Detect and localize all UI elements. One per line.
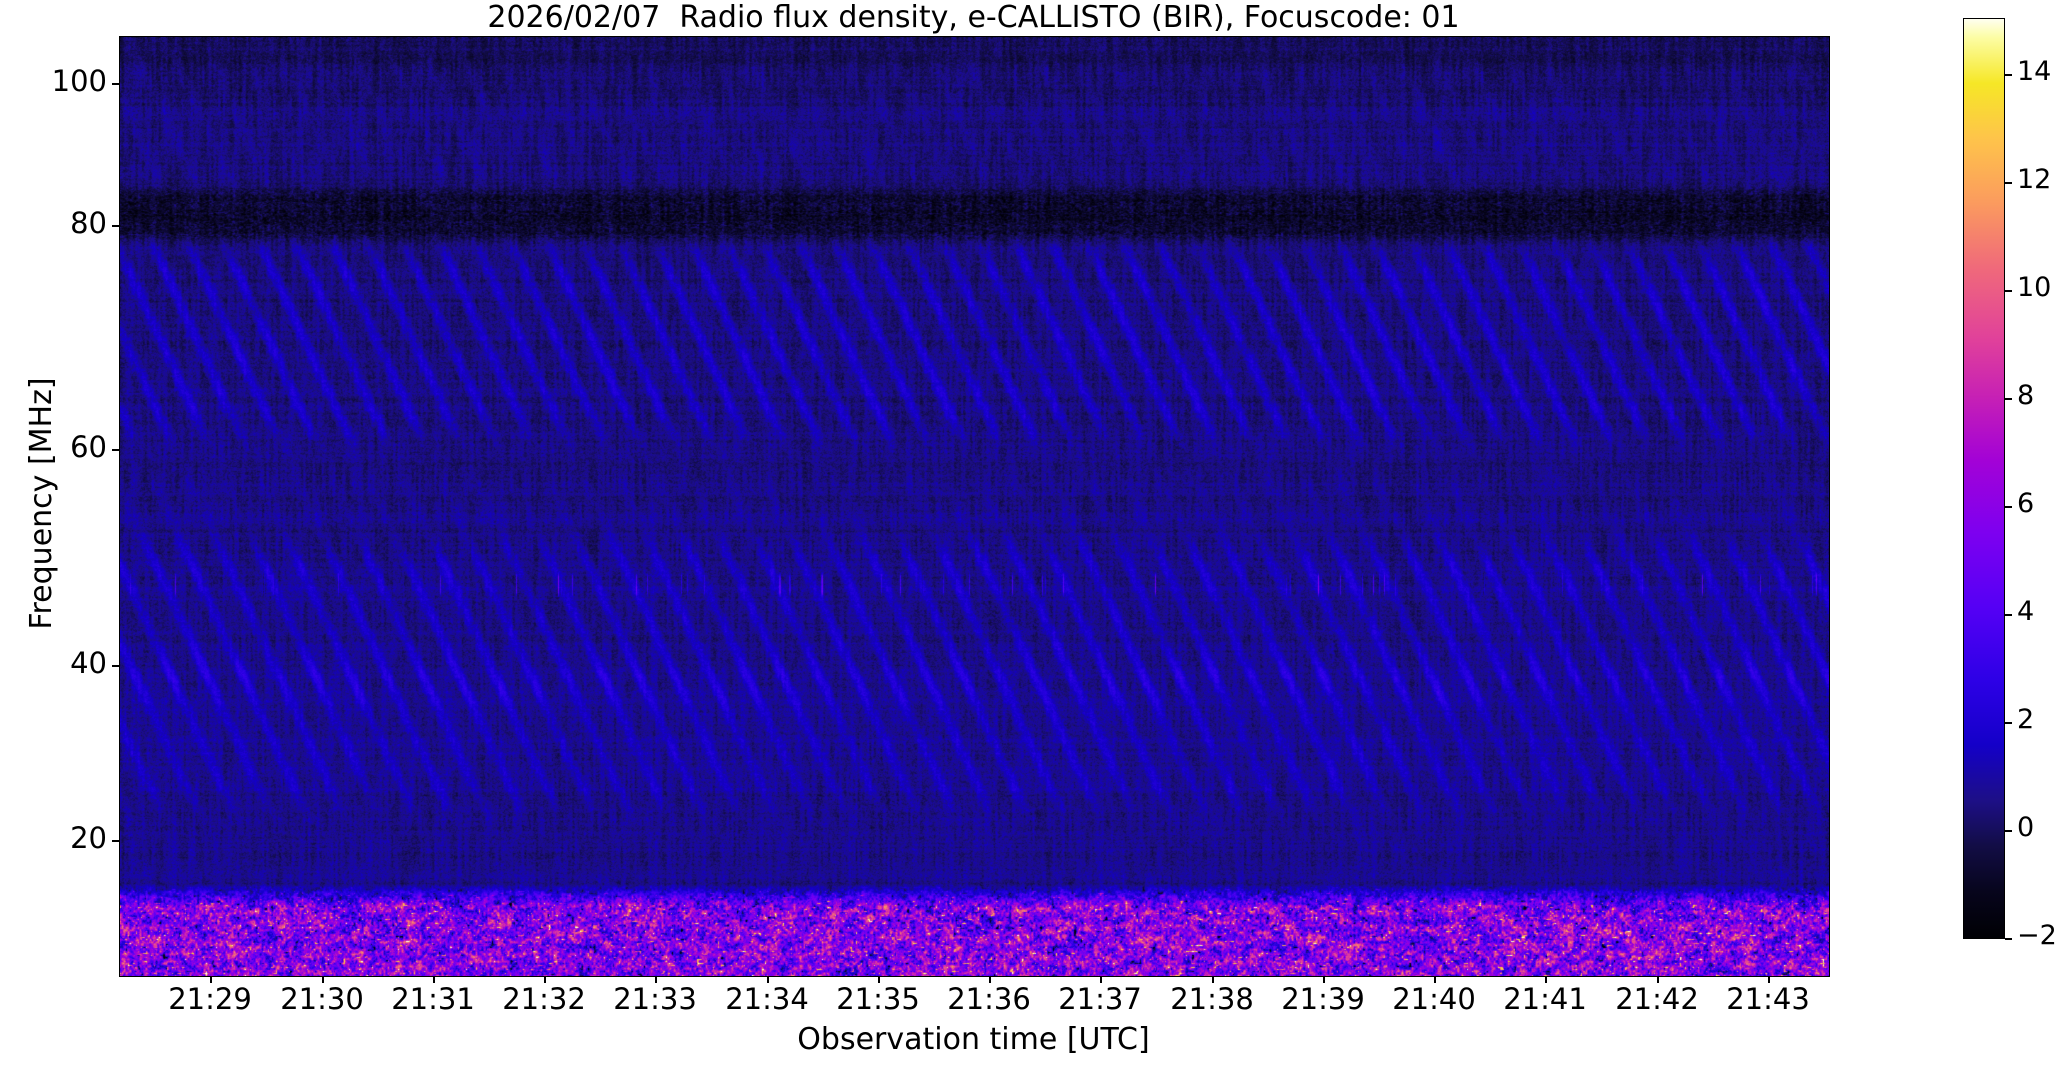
colorbar-tick-label: 10 — [2017, 272, 2051, 303]
spectrogram-figure: 2026/02/07 Radio flux density, e-CALLIST… — [0, 0, 2066, 1067]
colorbar-tick-label: 6 — [2017, 488, 2034, 519]
spectrogram-image — [120, 37, 1829, 976]
y-tick-label: 20 — [70, 821, 107, 855]
colorbar-tick-mark — [2005, 830, 2012, 832]
colorbar-tick-mark — [2005, 398, 2012, 400]
y-axis-label: Frequency [MHz] — [24, 34, 59, 973]
y-tick-mark — [112, 83, 119, 85]
y-tick-label: 100 — [52, 64, 107, 98]
colorbar-tick-mark — [2005, 938, 2012, 940]
colorbar-tick-label: 4 — [2017, 596, 2034, 627]
colorbar-tick-label: 2 — [2017, 704, 2034, 735]
x-axis-label: Observation time [UTC] — [119, 1022, 1828, 1057]
colorbar-tick-mark — [2005, 614, 2012, 616]
colorbar-tick-label: 14 — [2017, 56, 2051, 87]
colorbar-tick-mark — [2005, 290, 2012, 292]
colorbar-tick-label: 0 — [2017, 812, 2034, 843]
y-tick-mark — [112, 840, 119, 842]
y-tick-mark — [112, 225, 119, 227]
y-tick-label: 60 — [70, 430, 107, 464]
colorbar-tick-label: −2 — [2017, 920, 2057, 951]
colorbar-tick-mark — [2005, 506, 2012, 508]
colorbar-tick-label: 8 — [2017, 380, 2034, 411]
colorbar-tick-mark — [2005, 722, 2012, 724]
y-tick-mark — [112, 449, 119, 451]
spectrogram-axes — [119, 36, 1830, 977]
y-tick-mark — [112, 665, 119, 667]
colorbar-tick-mark — [2005, 74, 2012, 76]
colorbar-tick-label: 12 — [2017, 164, 2051, 195]
page-title: 2026/02/07 Radio flux density, e-CALLIST… — [119, 2, 1828, 34]
y-tick-label: 40 — [70, 646, 107, 680]
colorbar-container: 14121086420−2 — [1963, 18, 2005, 939]
colorbar-tick-mark — [2005, 182, 2012, 184]
colorbar-gradient — [1963, 18, 2005, 939]
x-tick-label: 21:43 — [1698, 982, 1838, 1016]
y-tick-label: 80 — [70, 206, 107, 240]
